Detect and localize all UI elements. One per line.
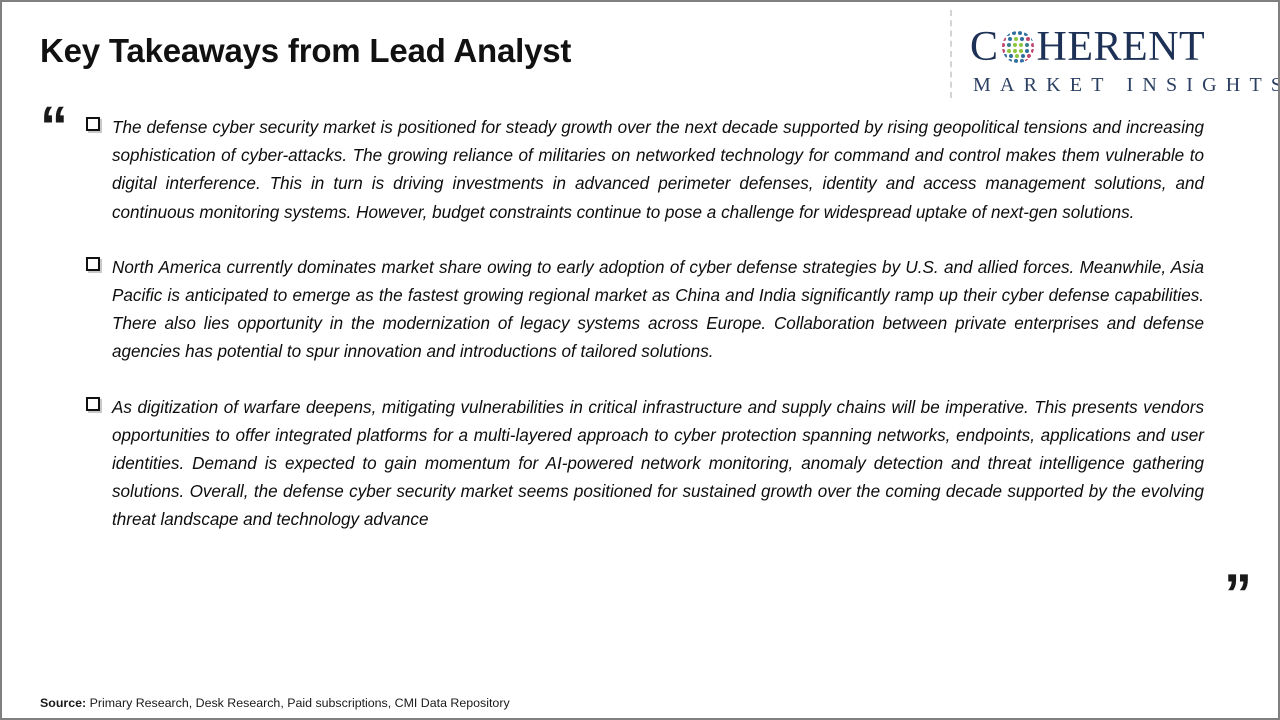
takeaways-list: The defense cyber security market is pos… xyxy=(86,114,1204,535)
open-square-bullet-icon xyxy=(86,397,100,411)
source-footer: Source: Primary Research, Desk Research,… xyxy=(40,696,510,710)
takeaway-text: As digitization of warfare deepens, miti… xyxy=(112,394,1204,535)
opening-quote-icon: “ xyxy=(40,98,68,154)
logo-brand-text: HERENT xyxy=(1037,26,1206,68)
takeaway-text: North America currently dominates market… xyxy=(112,254,1204,367)
source-label: Source: xyxy=(40,696,86,710)
coherent-market-insights-logo: C xyxy=(970,24,1266,100)
list-item: The defense cyber security market is pos… xyxy=(86,114,1204,227)
globe-dot-sphere-icon xyxy=(1000,29,1036,65)
list-item: As digitization of warfare deepens, miti… xyxy=(86,394,1204,535)
logo-letter-c: C xyxy=(970,26,999,68)
source-value: Primary Research, Desk Research, Paid su… xyxy=(86,696,510,710)
list-item: North America currently dominates market… xyxy=(86,254,1204,367)
logo-tagline: MARKET INSIGHTS xyxy=(973,74,1280,97)
slide-canvas: Key Takeaways from Lead Analyst C xyxy=(0,0,1280,720)
closing-quote-icon: ” xyxy=(1224,566,1252,622)
open-square-bullet-icon xyxy=(86,117,100,131)
logo-wordmark: C xyxy=(970,24,1205,70)
header-dashed-divider xyxy=(950,10,952,98)
open-square-bullet-icon xyxy=(86,257,100,271)
page-title: Key Takeaways from Lead Analyst xyxy=(40,32,571,70)
takeaway-text: The defense cyber security market is pos… xyxy=(112,114,1204,227)
slide-header: Key Takeaways from Lead Analyst C xyxy=(2,2,1280,102)
